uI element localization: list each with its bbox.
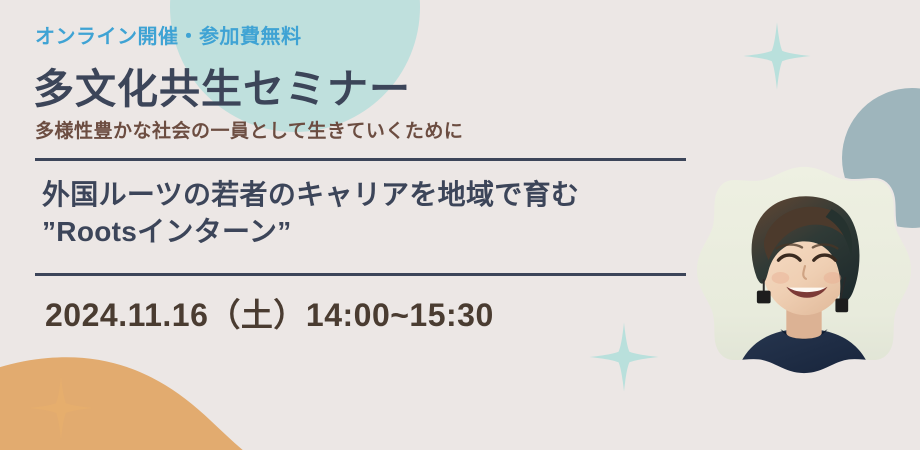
speaker-photo [696, 162, 912, 378]
divider-bottom [35, 273, 686, 276]
session-title-line-2: ”Rootsインターン” [42, 213, 692, 250]
session-title-line-1: 外国ルーツの若者のキャリアを地域で育む [42, 176, 692, 213]
seminar-poster: オンライン開催・参加費無料 多文化共生セミナー 多様性豊かな社会の一員として生き… [0, 0, 920, 450]
tagline: オンライン開催・参加費無料 [35, 20, 302, 49]
poster-content: オンライン開催・参加費無料 多文化共生セミナー 多様性豊かな社会の一員として生き… [0, 0, 700, 450]
speaker-block: 宮城 千恵子さん 認定NPO法人カタリバ Rootsプロジェクト （外国ルーツの… [688, 160, 920, 440]
divider-top [35, 158, 686, 161]
page-subtitle: 多様性豊かな社会の一員として生きていくために [35, 116, 463, 143]
page-title: 多文化共生セミナー [33, 55, 411, 115]
sparkle-top-right-icon [742, 18, 812, 94]
session-title: 外国ルーツの若者のキャリアを地域で育む ”Rootsインターン” [42, 176, 692, 250]
event-datetime: 2024.11.16（土）14:00~15:30 [45, 290, 494, 336]
